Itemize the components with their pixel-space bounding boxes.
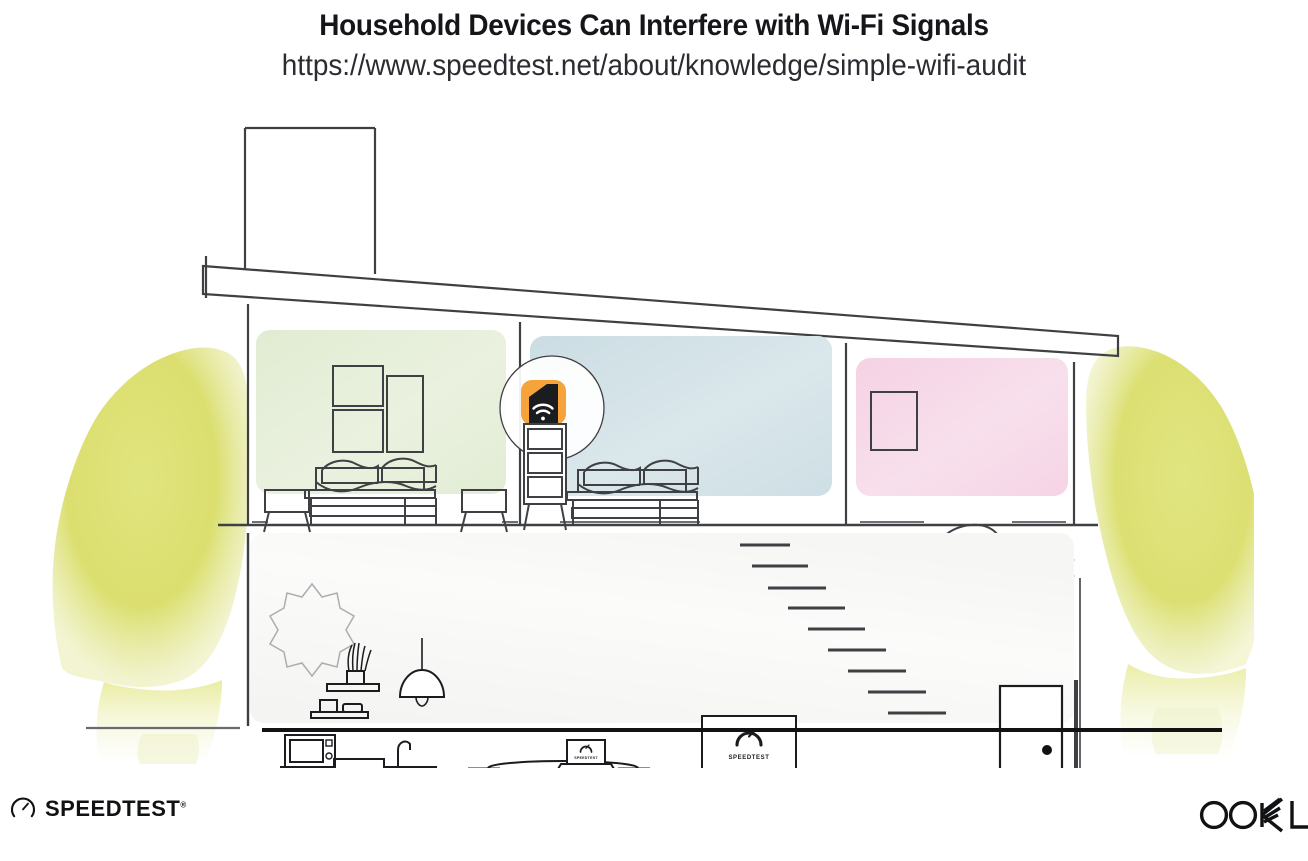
speedtest-wordmark: SPEEDTEST® — [45, 796, 187, 822]
infographic-page: Household Devices Can Interfere with Wi-… — [0, 0, 1308, 861]
foliage-left — [53, 347, 250, 764]
laptop-screen-label: SPEEDTEST — [574, 756, 598, 760]
roof-and-chimney — [203, 128, 1118, 356]
speedtest-registered-mark: ® — [180, 801, 186, 810]
speedtest-logo: SPEEDTEST® — [10, 796, 187, 822]
lower-floor — [250, 533, 1074, 723]
laptop — [558, 740, 614, 768]
foliage-right — [1086, 346, 1263, 756]
header: Household Devices Can Interfere with Wi-… — [0, 0, 1308, 83]
speedtest-gauge-icon — [10, 796, 36, 822]
dresser-with-router — [500, 356, 604, 530]
house-illustration: SPEEDTEST — [0, 108, 1308, 768]
page-title: Household Devices Can Interfere with Wi-… — [46, 0, 1262, 43]
tv-area — [690, 716, 900, 768]
source-url: https://www.speedtest.net/about/knowledg… — [46, 43, 1262, 83]
ookla-mark: ® — [1196, 794, 1308, 836]
dresser-carcass — [524, 424, 566, 504]
room-bedroom-green — [252, 330, 518, 532]
tv-screen-label: SPEEDTEST — [728, 755, 769, 761]
dining-area — [468, 740, 650, 768]
ookla-logo: ® — [1196, 794, 1308, 836]
chimney — [245, 128, 375, 274]
speedtest-wordmark-text: SPEEDTEST — [45, 796, 180, 821]
microwave — [285, 735, 335, 767]
kitchen-faucet — [398, 742, 410, 767]
footer: SPEEDTEST® — [0, 780, 1308, 861]
door-knob-icon — [1042, 745, 1052, 755]
